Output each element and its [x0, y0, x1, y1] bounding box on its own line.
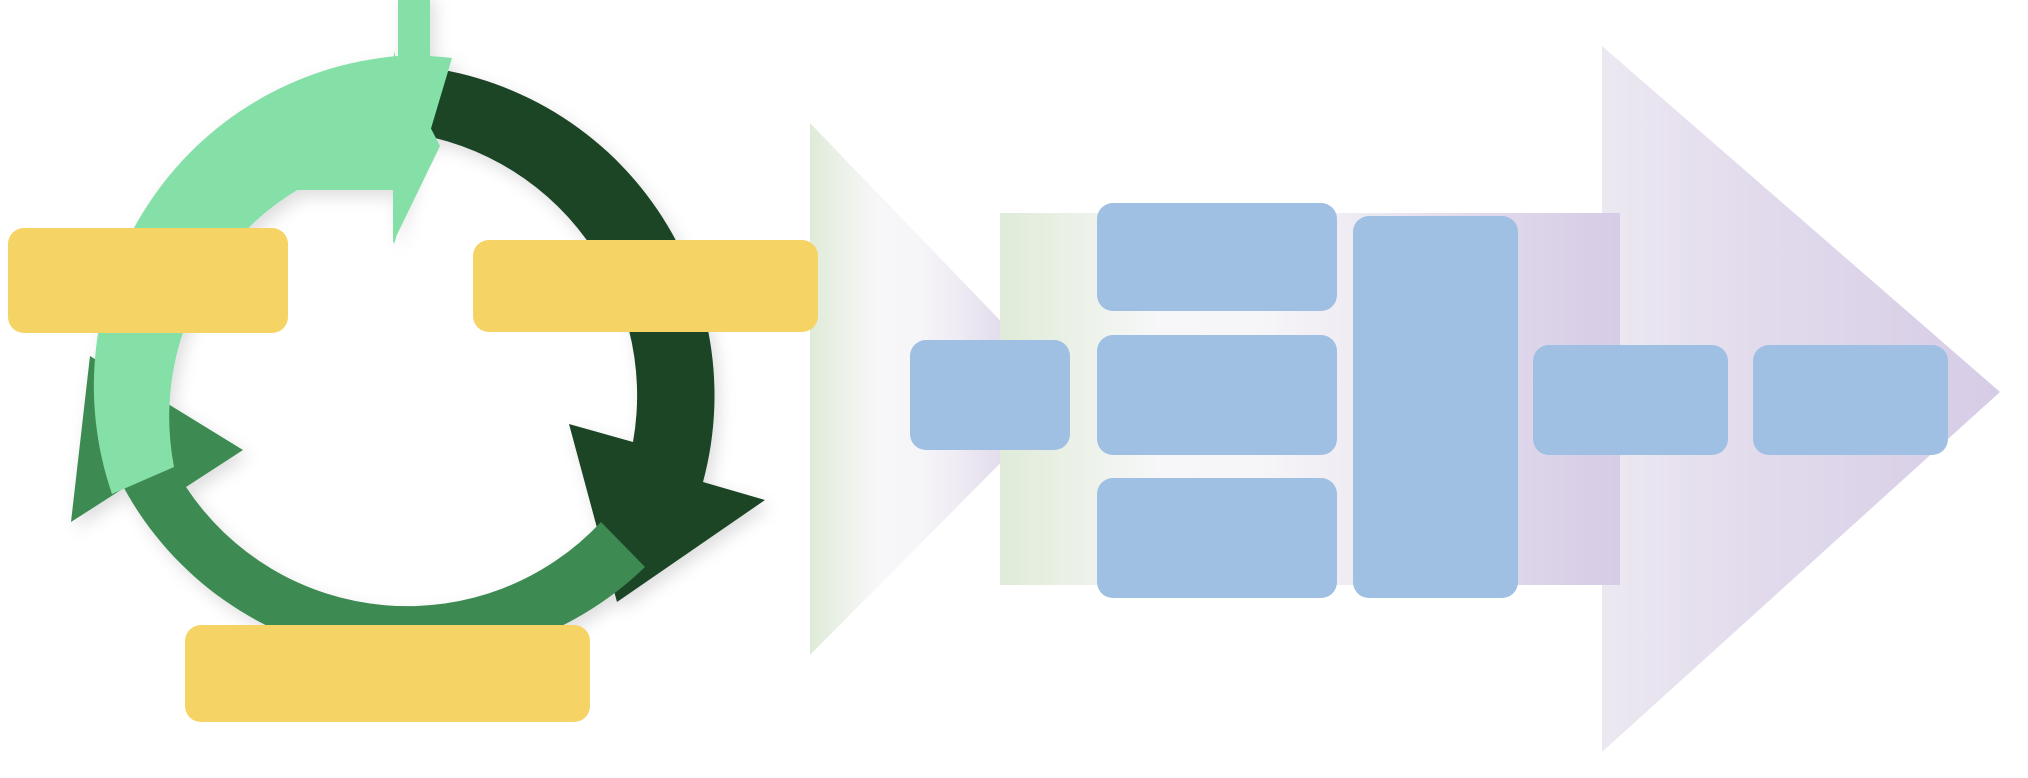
pipeline-node-implement-client-side[interactable]	[1097, 478, 1337, 598]
pipeline-node-implement-redeemer[interactable]	[1097, 335, 1337, 455]
pipeline-node-implement-issuer[interactable]	[1097, 203, 1337, 311]
cycle-node-understand[interactable]	[8, 228, 288, 333]
light-green-arrowhead	[393, 55, 440, 243]
pipeline-node-apply-use-case[interactable]	[1533, 345, 1728, 455]
pipeline-node-monitor-and-test[interactable]	[1753, 345, 1948, 455]
pipeline-node-run-demo[interactable]	[910, 340, 1070, 450]
cycle-node-strategy[interactable]	[185, 625, 590, 722]
cycle-node-identify[interactable]	[473, 240, 818, 332]
diagram-canvas	[0, 0, 2028, 778]
pipeline-node-deploy-test[interactable]	[1353, 216, 1518, 598]
cycle-center-label	[240, 350, 540, 460]
